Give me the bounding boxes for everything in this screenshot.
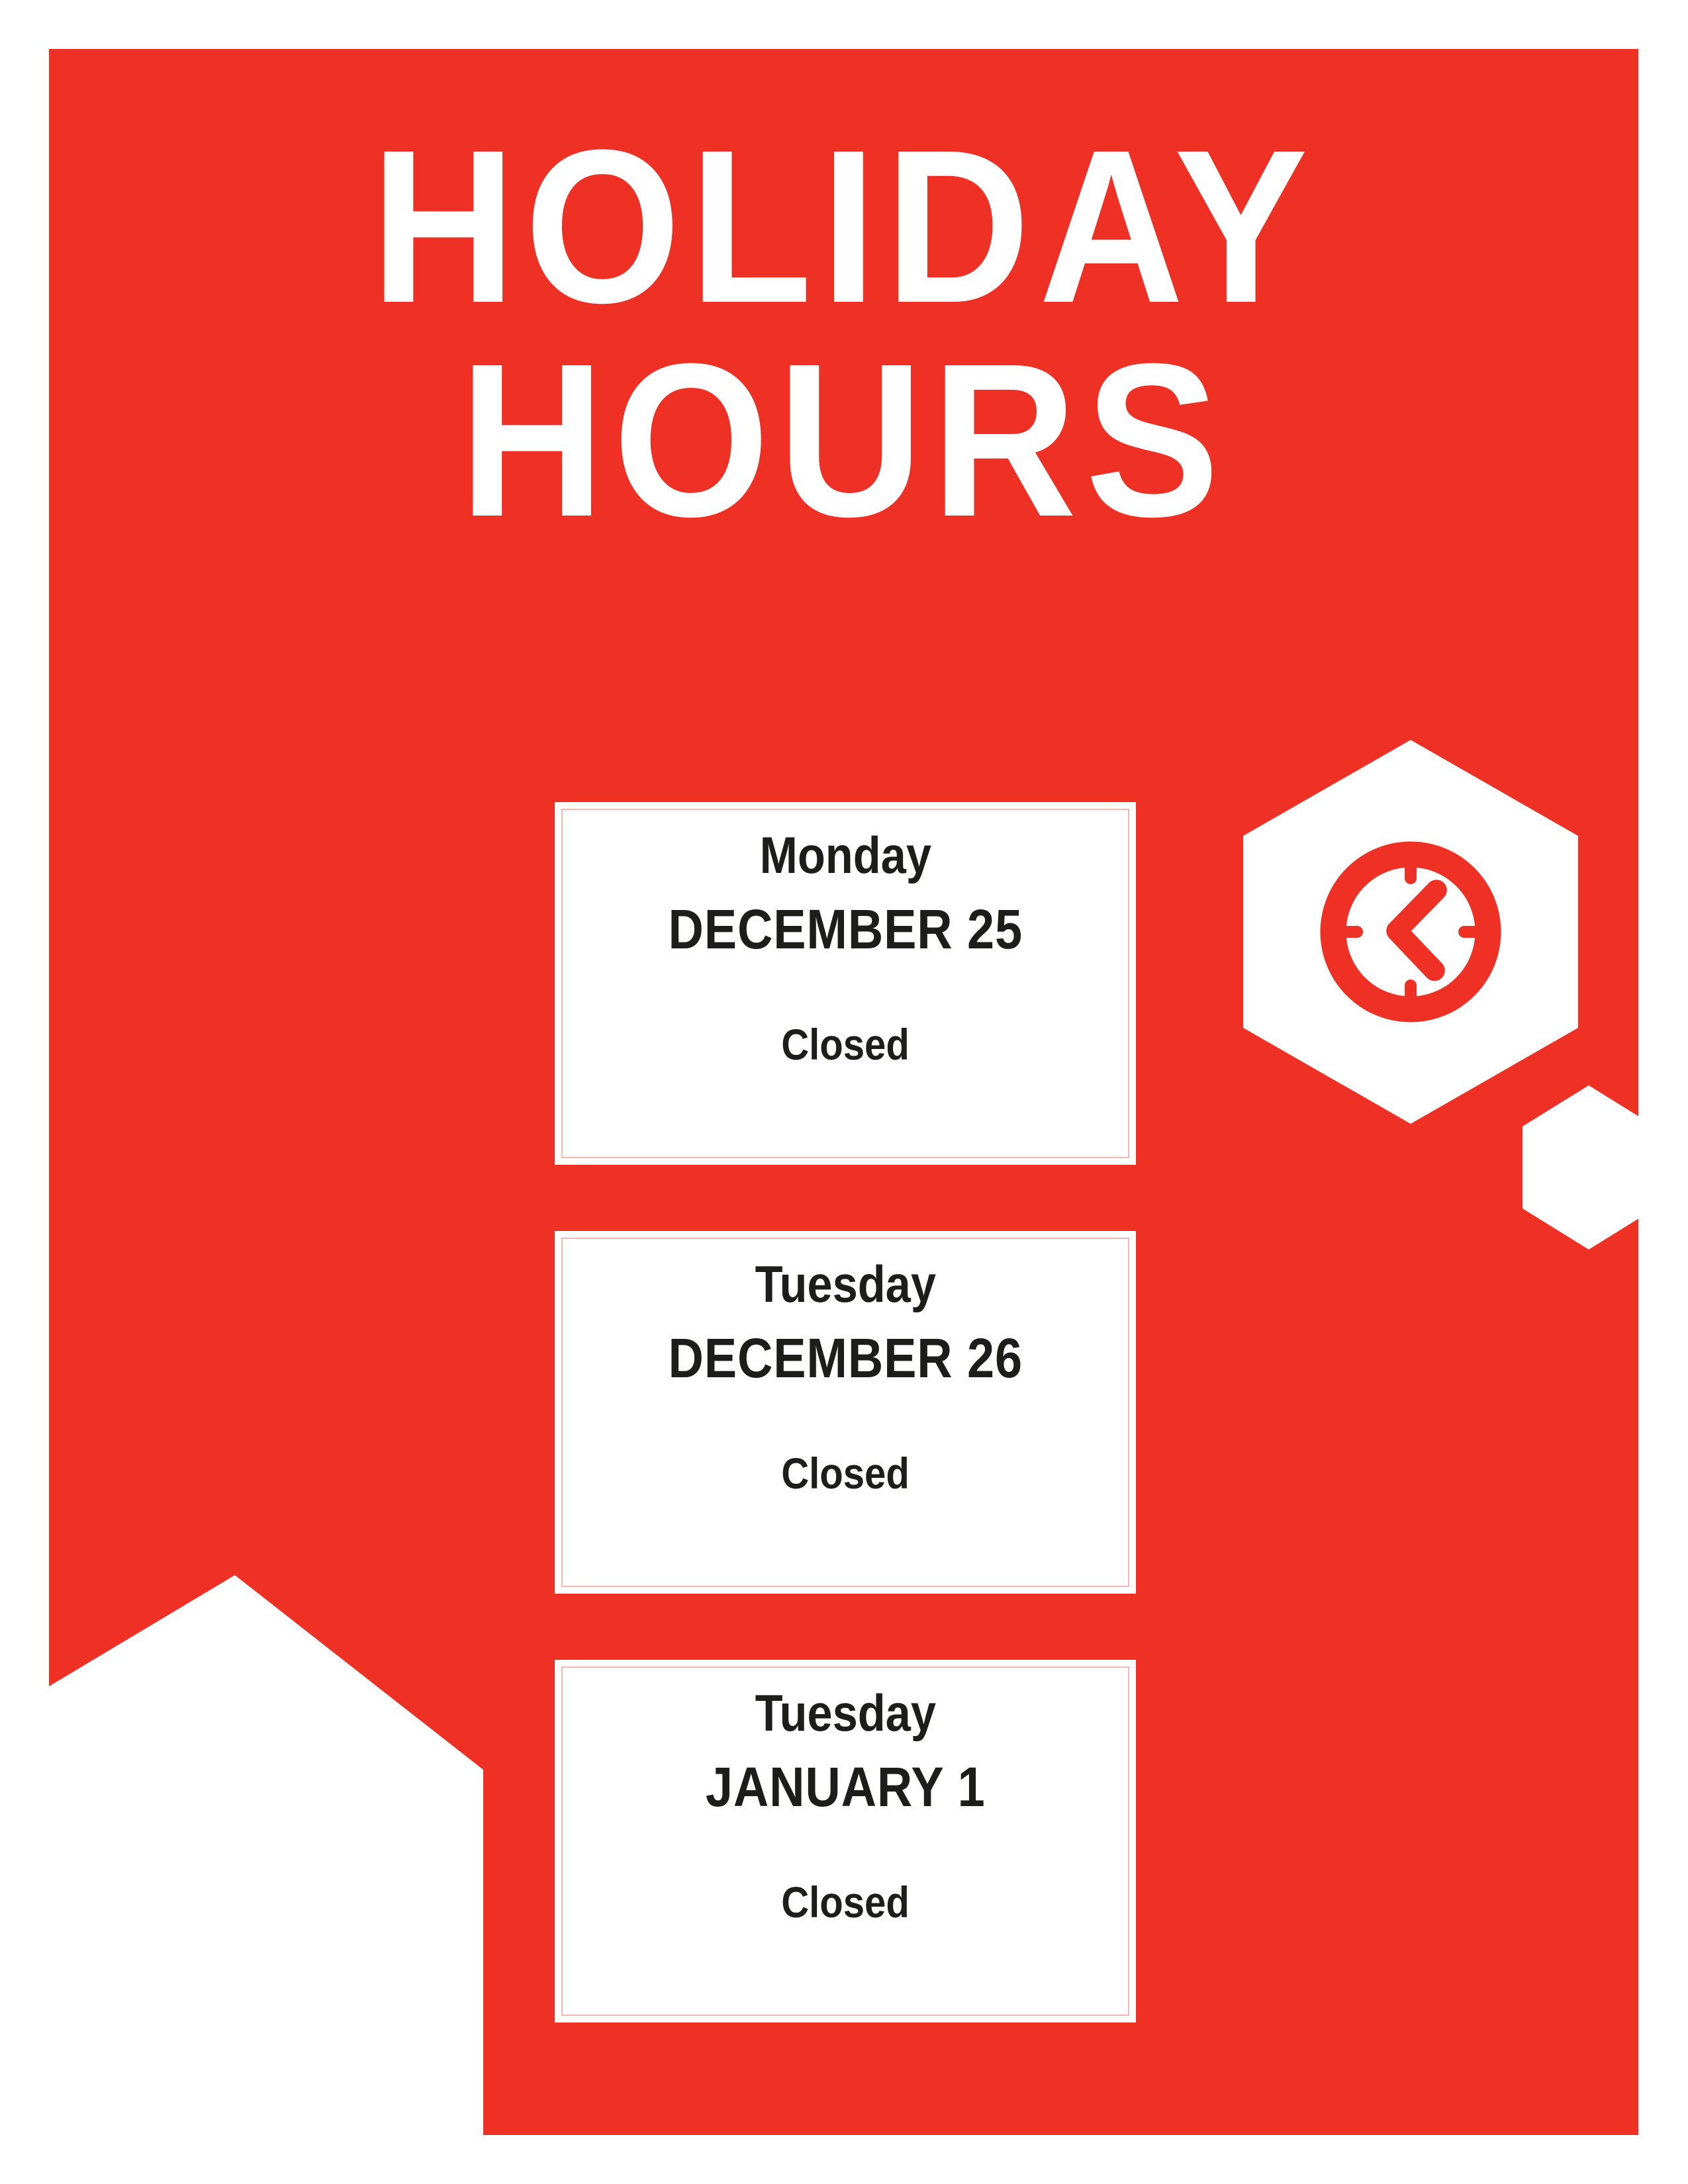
holiday-card[interactable]: Tuesday DECEMBER 26 Closed [555,1231,1136,1594]
card-date-label: DECEMBER 25 [668,900,1022,958]
holiday-card-inner: Tuesday DECEMBER 26 Closed [561,1238,1129,1587]
holiday-card[interactable]: Tuesday JANUARY 1 Closed [555,1660,1136,2023]
card-day-label: Tuesday [755,1257,935,1312]
card-day-label: Monday [759,829,931,883]
card-day-label: Tuesday [755,1686,935,1741]
clock-icon [1311,833,1510,1031]
card-date-label: JANUARY 1 [706,1758,986,1816]
card-status-label: Closed [781,1451,910,1496]
holiday-card-inner: Tuesday JANUARY 1 Closed [561,1666,1129,2016]
card-date-label: DECEMBER 26 [668,1329,1022,1387]
card-status-label: Closed [781,1022,910,1068]
card-status-label: Closed [781,1880,910,1925]
page-title: HOLIDAY HOURS [49,119,1638,547]
title-line-hours: HOURS [113,333,1575,547]
holiday-card-inner: Monday DECEMBER 25 Closed [561,809,1129,1158]
holiday-card[interactable]: Monday DECEMBER 25 Closed [555,802,1136,1165]
holiday-hours-poster: HOLIDAY HOURS Monday DECEMBER 25 Closed [0,0,1688,2184]
holiday-card-list: Monday DECEMBER 25 Closed Tuesday DECEMB… [555,802,1136,2089]
title-line-holiday: HOLIDAY [113,119,1575,333]
clock-badge [1243,740,1578,1124]
